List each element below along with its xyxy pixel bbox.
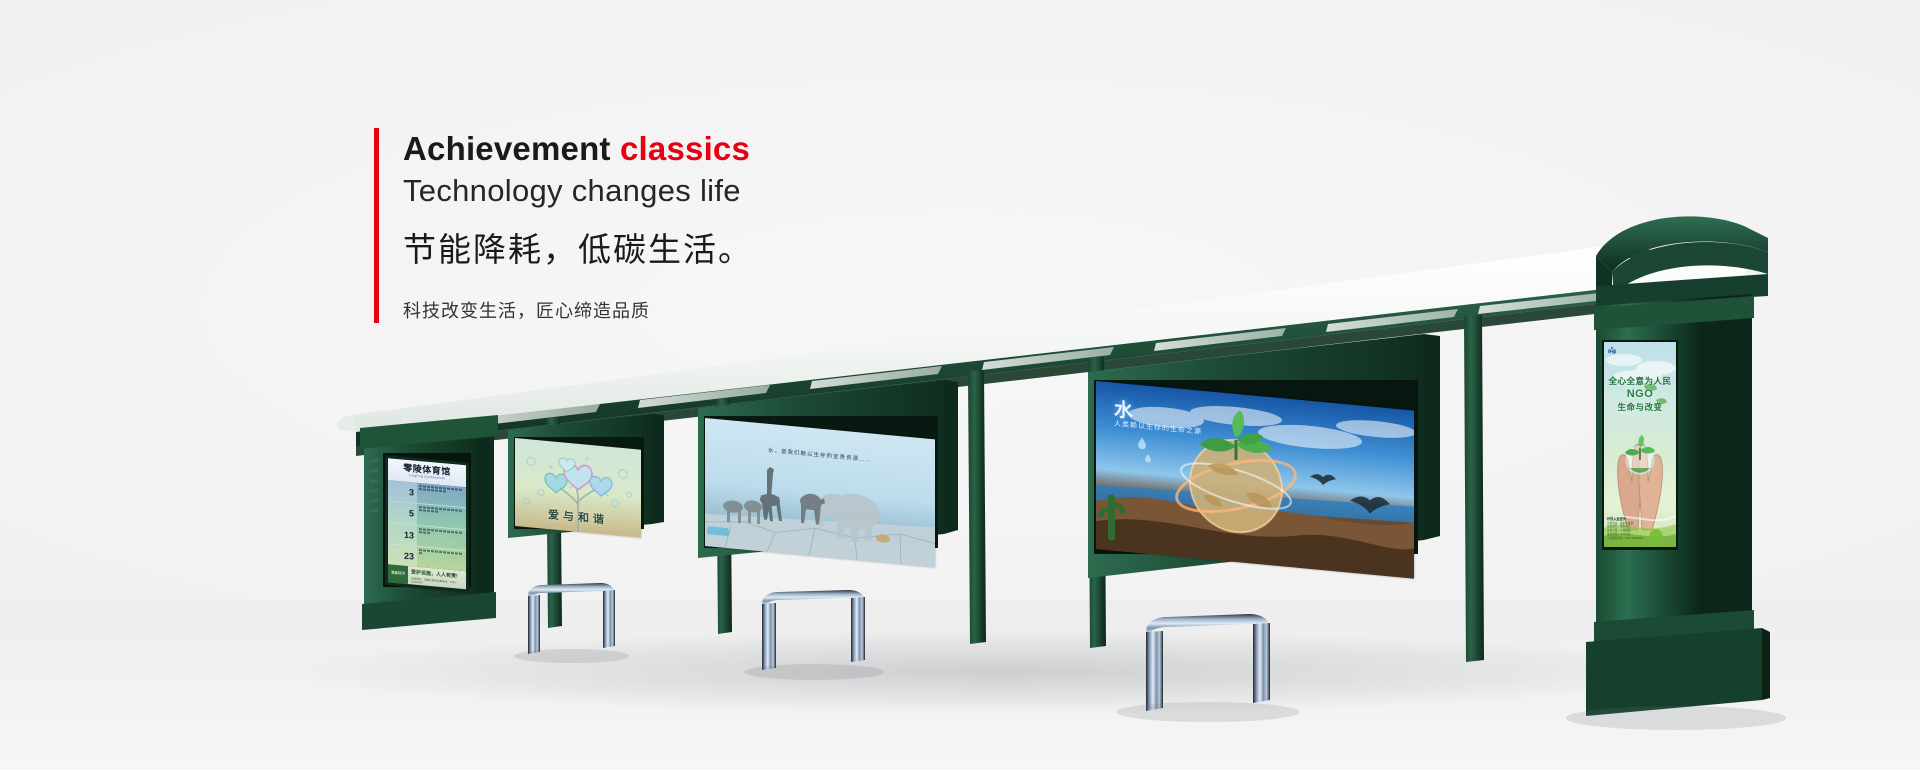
bulb-sprout (1625, 435, 1655, 475)
pillar-plinth-edge (1762, 628, 1770, 700)
ngo-footer-contact: 公益服务热线：0000-00000000 (1607, 537, 1643, 540)
panel-schedule-side (478, 428, 494, 612)
banner-stage: Achievement classics Technology changes … (0, 0, 1920, 770)
ngo-footer-line: 垃圾分类，从我做起 (1607, 529, 1630, 532)
schedule-subtitle: Lingling Gymnasium (409, 474, 445, 481)
ngo-footer: 环保公益宣传 节约用水，保护水资源 绿色出行，低碳生活 垃圾分类，从我做起 爱护… (1607, 517, 1673, 541)
water-droplets (1138, 437, 1151, 463)
panel-water-side (1424, 334, 1440, 540)
ngo-footer-line: 爱护环境，人人有责 (1607, 533, 1630, 536)
route-number: 23 (388, 544, 417, 567)
bench-leg (603, 590, 615, 648)
route-number: 3 (388, 480, 417, 503)
ngo-headline-line3: 生命与改变 (1617, 402, 1662, 412)
support-post (968, 370, 986, 644)
bench-leg (851, 597, 865, 662)
poster-schedule[interactable]: 零陵体育馆 Lingling Gymnasium 3 5 13 (385, 455, 469, 593)
water-artwork (1096, 381, 1414, 579)
route-number: 13 (388, 523, 417, 546)
ground-shadow (280, 630, 1720, 714)
route-number: 5 (388, 502, 417, 525)
bench-leg (762, 603, 776, 670)
bench-leg (528, 595, 540, 654)
ngo-footer-line: 绿色出行，低碳生活 (1607, 525, 1630, 528)
ngo-logo: ●环保 (1608, 346, 1616, 355)
poster-animals[interactable]: 水，是我们赖以生存的宝贵资源…… (705, 418, 935, 567)
panel-animals-side (944, 380, 958, 534)
poster-heart-tree[interactable]: 爱与和谐 (515, 438, 641, 538)
schedule-footer-tag: 温馨提示 (388, 564, 408, 584)
poster-ngo[interactable]: ●环保 全心全意为人民NGO 生命与改变 环保公益宣传 节约用水，保护水资源 绿… (1604, 342, 1676, 547)
panel-tree-side (652, 414, 664, 524)
support-post (1464, 315, 1484, 662)
ngo-headline-line1: 全心全意为人民 (1608, 376, 1671, 386)
schedule-route-list: 3 5 13 23 (388, 480, 466, 571)
giraffe (760, 466, 782, 522)
bench-leg (1146, 631, 1163, 711)
ngo-headline-line2: NGO (1627, 388, 1654, 400)
ngo-headline: 全心全意为人民NGO 生命与改变 (1604, 376, 1676, 414)
animals-artwork (705, 418, 935, 567)
poster-water[interactable]: 水 人类赖以生存的生命之源 (1096, 381, 1414, 579)
pillar-body-side (1700, 294, 1752, 660)
roof-surface (352, 246, 1750, 432)
bench-leg (1253, 623, 1270, 703)
ngo-footer-title: 环保公益宣传 (1607, 517, 1626, 521)
